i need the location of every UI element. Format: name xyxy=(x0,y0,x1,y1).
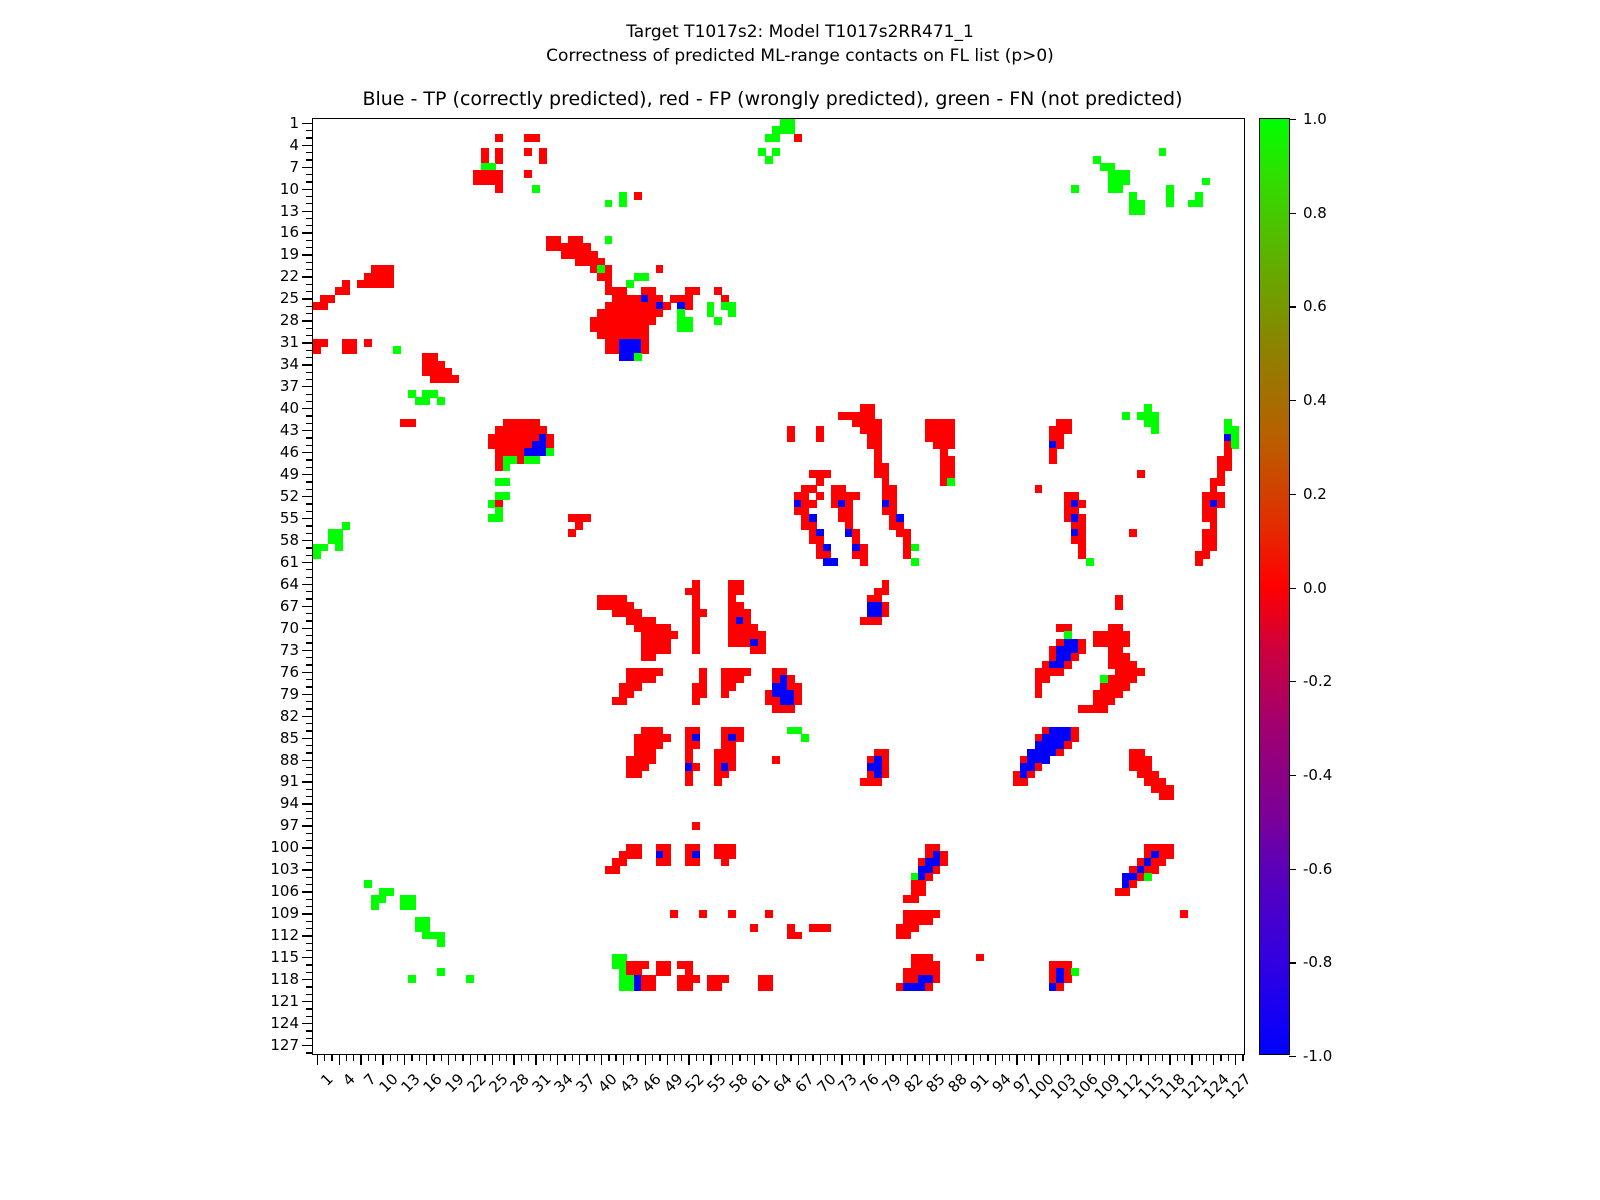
x-tick xyxy=(725,1054,726,1061)
y-tick xyxy=(302,562,313,563)
y-tick-label: 31 xyxy=(280,333,299,351)
x-tick xyxy=(914,1054,915,1061)
contact-cell-fp xyxy=(685,778,693,786)
y-tick-label: 118 xyxy=(270,970,299,988)
colorbar-tick xyxy=(1289,306,1296,307)
y-tick xyxy=(306,686,313,687)
y-tick xyxy=(302,452,313,453)
figure-title-line2: Correctness of predicted ML-range contac… xyxy=(0,44,1600,68)
contact-cell-fp xyxy=(320,302,328,310)
y-tick xyxy=(306,181,313,182)
contact-cell-fp xyxy=(692,741,700,749)
x-tick xyxy=(382,1054,383,1065)
contact-cell-fp xyxy=(663,302,671,310)
x-tick xyxy=(368,1054,369,1061)
y-tick xyxy=(306,152,313,153)
x-tick xyxy=(1097,1054,1098,1061)
contact-cell-fn xyxy=(772,134,780,142)
contact-cell-fp xyxy=(728,763,736,771)
contact-cell-fn xyxy=(1115,185,1123,193)
x-tick xyxy=(477,1054,478,1061)
contact-cell-fn xyxy=(1144,873,1152,881)
y-tick xyxy=(302,364,313,365)
contact-cell-fp xyxy=(933,866,941,874)
contact-cell-fp xyxy=(925,917,933,925)
contact-cell-fp xyxy=(619,858,627,866)
y-tick-label: 46 xyxy=(280,443,299,461)
contact-cell-fn xyxy=(626,280,634,288)
x-tick xyxy=(543,1054,544,1061)
y-tick-label: 25 xyxy=(280,289,299,307)
x-tick xyxy=(1206,1054,1207,1061)
y-tick xyxy=(302,254,313,255)
colorbar-tick xyxy=(1289,119,1296,120)
y-tick xyxy=(306,291,313,292)
contact-cell-fp xyxy=(787,705,795,713)
x-tick xyxy=(980,1054,981,1061)
y-tick xyxy=(306,394,313,395)
contact-cell-fp xyxy=(699,690,707,698)
colorbar-tick-label: -0.6 xyxy=(1303,860,1332,878)
contact-cell-fp xyxy=(1115,690,1123,698)
contact-cell-fn xyxy=(619,200,627,208)
x-tick-label: 1 xyxy=(317,1070,336,1089)
contact-cell-fp xyxy=(386,280,394,288)
y-tick xyxy=(306,862,313,863)
contact-cell-fp xyxy=(648,756,656,764)
x-tick xyxy=(1089,1054,1090,1061)
contact-cell-fp xyxy=(451,375,459,383)
contact-cell-fp xyxy=(1159,858,1167,866)
x-tick xyxy=(470,1054,471,1065)
contact-cell-fp xyxy=(925,873,933,881)
x-tick xyxy=(594,1054,595,1061)
y-tick xyxy=(306,964,313,965)
y-tick xyxy=(302,935,313,936)
x-tick xyxy=(608,1054,609,1061)
x-tick xyxy=(404,1054,405,1065)
colorbar-tick-label: -0.2 xyxy=(1303,672,1332,690)
contact-cell-fp xyxy=(568,529,576,537)
x-tick xyxy=(601,1054,602,1065)
contact-cell-fn xyxy=(772,148,780,156)
contact-cell-fp xyxy=(903,932,911,940)
y-tick xyxy=(306,1038,313,1039)
y-tick xyxy=(302,869,313,870)
x-tick xyxy=(681,1054,682,1061)
x-tick xyxy=(346,1054,347,1061)
contact-cell-fp xyxy=(663,968,671,976)
y-tick xyxy=(302,957,313,958)
y-tick xyxy=(306,240,313,241)
x-tick xyxy=(550,1054,551,1061)
contact-cell-fp xyxy=(670,910,678,918)
y-tick xyxy=(306,503,313,504)
y-tick xyxy=(302,408,313,409)
y-tick xyxy=(302,540,313,541)
x-tick xyxy=(375,1054,376,1061)
y-tick xyxy=(306,401,313,402)
y-tick xyxy=(302,891,313,892)
colorbar-tick-label: 0.8 xyxy=(1303,204,1327,222)
x-tick xyxy=(339,1054,340,1065)
x-tick xyxy=(878,1054,879,1061)
contact-cell-fp xyxy=(685,302,693,310)
contact-cell-fn xyxy=(342,522,350,530)
contact-cell-fn xyxy=(714,317,722,325)
contact-cell-fp xyxy=(823,470,831,478)
contact-cell-fp xyxy=(663,734,671,742)
contact-cell-fp xyxy=(670,631,678,639)
contact-cell-fp xyxy=(1071,653,1079,661)
contact-cell-fp xyxy=(758,646,766,654)
contact-cell-fp xyxy=(1180,910,1188,918)
y-tick xyxy=(306,379,313,380)
contact-cell-fp xyxy=(648,317,656,325)
x-tick xyxy=(995,1054,996,1065)
y-tick xyxy=(302,913,313,914)
contact-cell-fp xyxy=(1042,675,1050,683)
contact-cell-fn xyxy=(605,236,613,244)
x-tick xyxy=(1104,1054,1105,1065)
contact-cell-fp xyxy=(911,895,919,903)
x-tick xyxy=(397,1054,398,1061)
contact-cell-fp xyxy=(765,910,773,918)
y-tick xyxy=(306,372,313,373)
x-tick xyxy=(849,1054,850,1061)
x-tick xyxy=(1191,1054,1192,1065)
contact-cell-fp xyxy=(1166,851,1174,859)
contact-cell-fp xyxy=(736,675,744,683)
y-tick xyxy=(306,635,313,636)
contact-cell-fp xyxy=(1108,697,1116,705)
contact-cell-fp xyxy=(1217,478,1225,486)
y-tick xyxy=(306,774,313,775)
x-tick xyxy=(1228,1054,1229,1061)
x-tick xyxy=(1169,1054,1170,1065)
contact-cell-fn xyxy=(437,939,445,947)
y-tick xyxy=(302,1001,313,1002)
y-tick xyxy=(306,137,313,138)
contact-cell-fp xyxy=(816,434,824,442)
x-tick xyxy=(820,1054,821,1065)
x-tick xyxy=(1002,1054,1003,1061)
x-tick xyxy=(630,1054,631,1061)
contact-cell-fp xyxy=(1115,602,1123,610)
x-tick xyxy=(331,1054,332,1061)
x-tick xyxy=(564,1054,565,1061)
x-tick xyxy=(652,1054,653,1061)
x-tick-label: 127 xyxy=(1222,1070,1255,1103)
x-tick xyxy=(426,1054,427,1065)
contact-cell-fp xyxy=(1122,683,1130,691)
contact-cell-fn xyxy=(1071,968,1079,976)
x-tick xyxy=(623,1054,624,1065)
y-tick-label: 82 xyxy=(280,707,299,725)
y-tick xyxy=(306,664,313,665)
colorbar-tick-label: 0.2 xyxy=(1303,485,1327,503)
y-tick xyxy=(306,569,313,570)
contact-cell-fp xyxy=(721,858,729,866)
x-tick xyxy=(1038,1054,1039,1065)
y-tick xyxy=(306,752,313,753)
y-tick-label: 109 xyxy=(270,904,299,922)
y-tick xyxy=(306,130,313,131)
contact-cell-fp xyxy=(882,588,890,596)
y-tick xyxy=(306,921,313,922)
x-tick xyxy=(615,1054,616,1061)
colorbar-tick xyxy=(1289,400,1296,401)
contact-cell-fp xyxy=(1049,456,1057,464)
contact-cell-fp xyxy=(750,924,758,932)
y-tick xyxy=(302,1045,313,1046)
contact-cell-fp xyxy=(852,492,860,500)
contact-cell-tp xyxy=(831,558,839,566)
contact-cell-fp xyxy=(925,983,933,991)
x-tick xyxy=(703,1054,704,1061)
contact-cell-fp xyxy=(641,961,649,969)
y-tick xyxy=(306,767,313,768)
x-tick xyxy=(1060,1054,1061,1065)
y-tick xyxy=(306,745,313,746)
x-tick xyxy=(586,1054,587,1061)
y-tick xyxy=(302,496,313,497)
y-tick xyxy=(302,430,313,431)
colorbar-tick xyxy=(1289,775,1296,776)
y-tick-label: 43 xyxy=(280,421,299,439)
y-tick xyxy=(306,533,313,534)
contact-cell-fp xyxy=(699,910,707,918)
contact-cell-fp xyxy=(772,756,780,764)
figure-title: Target T1017s2: Model T1017s2RR471_1 Cor… xyxy=(0,20,1600,68)
x-tick xyxy=(965,1054,966,1061)
y-tick xyxy=(306,262,313,263)
contact-cell-fp xyxy=(1020,778,1028,786)
y-tick xyxy=(302,979,313,980)
colorbar: 1.00.80.60.40.20.0-0.2-0.4-0.6-0.8-1.0 xyxy=(1259,118,1290,1055)
contact-cell-fp xyxy=(692,822,700,830)
contact-cell-fp xyxy=(1035,485,1043,493)
y-tick xyxy=(302,738,313,739)
x-tick xyxy=(1009,1054,1010,1061)
y-tick xyxy=(306,415,313,416)
contact-cell-fn xyxy=(408,975,416,983)
x-tick xyxy=(353,1054,354,1061)
contact-cell-fp xyxy=(656,265,664,273)
y-tick-label: 88 xyxy=(280,751,299,769)
x-tick xyxy=(499,1054,500,1061)
contact-cell-fp xyxy=(933,975,941,983)
x-tick xyxy=(769,1054,770,1061)
y-tick xyxy=(306,1030,313,1031)
x-tick xyxy=(528,1054,529,1061)
x-tick xyxy=(1184,1054,1185,1061)
y-tick xyxy=(302,320,313,321)
x-tick xyxy=(521,1054,522,1061)
x-tick xyxy=(667,1054,668,1065)
contact-cell-fn xyxy=(1151,426,1159,434)
y-tick xyxy=(302,145,313,146)
y-tick-label: 52 xyxy=(280,487,299,505)
contact-map-plot-area[interactable]: 1471013161922252831343740434649525558616… xyxy=(312,118,1245,1055)
y-tick xyxy=(306,1008,313,1009)
x-tick xyxy=(513,1054,514,1065)
contact-cell-fn xyxy=(503,492,511,500)
contact-cell-fn xyxy=(379,895,387,903)
x-tick xyxy=(1031,1054,1032,1061)
x-tick xyxy=(360,1054,361,1065)
x-tick xyxy=(761,1054,762,1061)
x-tick xyxy=(841,1054,842,1065)
y-tick xyxy=(302,342,313,343)
contact-cell-fp xyxy=(714,983,722,991)
y-tick-label: 100 xyxy=(270,838,299,856)
contact-cell-fp xyxy=(692,646,700,654)
x-tick xyxy=(1162,1054,1163,1061)
contact-cell-fp xyxy=(1071,734,1079,742)
contact-cell-fp xyxy=(692,763,700,771)
x-tick xyxy=(732,1054,733,1065)
contact-cell-fp xyxy=(787,434,795,442)
y-tick xyxy=(302,825,313,826)
contact-cell-fn xyxy=(634,353,642,361)
contact-cell-fn xyxy=(503,463,511,471)
x-tick xyxy=(324,1054,325,1061)
contact-cell-fn xyxy=(911,544,919,552)
contact-cell-fp xyxy=(794,932,802,940)
y-tick xyxy=(306,247,313,248)
y-tick-label: 85 xyxy=(280,729,299,747)
y-tick-label: 64 xyxy=(280,575,299,593)
colorbar-tick xyxy=(1289,681,1296,682)
x-tick xyxy=(441,1054,442,1061)
contact-cell-fp xyxy=(721,690,729,698)
contact-cell-fp xyxy=(1202,551,1210,559)
contact-cell-fp xyxy=(728,851,736,859)
x-tick xyxy=(987,1054,988,1061)
contact-cell-fp xyxy=(736,588,744,596)
y-tick xyxy=(302,847,313,848)
y-tick-label: 67 xyxy=(280,597,299,615)
x-tick xyxy=(645,1054,646,1065)
colorbar-tick xyxy=(1289,1056,1296,1057)
contact-cell-fp xyxy=(495,156,503,164)
contact-cell-fp xyxy=(1056,749,1064,757)
y-tick xyxy=(306,708,313,709)
contact-cell-fp xyxy=(1122,639,1130,647)
contact-cell-fn xyxy=(801,734,809,742)
y-tick xyxy=(302,298,313,299)
y-tick-label: 55 xyxy=(280,509,299,527)
x-tick xyxy=(579,1054,580,1065)
contact-cell-fn xyxy=(364,880,372,888)
x-tick xyxy=(747,1054,748,1061)
y-tick xyxy=(306,701,313,702)
y-tick xyxy=(306,730,313,731)
y-tick-label: 115 xyxy=(270,948,299,966)
x-tick xyxy=(1242,1054,1243,1061)
colorbar-tick-label: 0.6 xyxy=(1303,297,1327,315)
contact-cell-fp xyxy=(364,339,372,347)
colorbar-tick xyxy=(1289,213,1296,214)
colorbar-tick xyxy=(1289,869,1296,870)
y-tick xyxy=(306,723,313,724)
y-tick-label: 13 xyxy=(280,202,299,220)
contact-cell-fp xyxy=(736,734,744,742)
y-tick xyxy=(306,598,313,599)
x-tick xyxy=(1046,1054,1047,1061)
x-tick xyxy=(1155,1054,1156,1061)
y-tick xyxy=(306,943,313,944)
x-tick xyxy=(1016,1054,1017,1065)
y-tick xyxy=(306,481,313,482)
contact-cell-fp xyxy=(860,558,868,566)
y-tick xyxy=(306,225,313,226)
contact-cell-fp xyxy=(1064,741,1072,749)
y-tick-label: 1 xyxy=(289,114,299,132)
y-tick xyxy=(306,313,313,314)
x-tick xyxy=(696,1054,697,1061)
contact-cell-fn xyxy=(1231,441,1239,449)
contact-cell-fp xyxy=(1064,975,1072,983)
y-tick xyxy=(302,276,313,277)
contact-cell-fp xyxy=(1056,668,1064,676)
contact-cell-fp xyxy=(1100,705,1108,713)
contact-cell-fp xyxy=(575,522,583,530)
contact-cell-fp xyxy=(524,170,532,178)
contact-cell-fp xyxy=(1137,470,1145,478)
y-tick-label: 76 xyxy=(280,663,299,681)
contact-cell-fp xyxy=(765,983,773,991)
y-tick xyxy=(302,123,313,124)
contact-cell-fp xyxy=(794,697,802,705)
y-tick-label: 7 xyxy=(289,158,299,176)
x-tick xyxy=(1075,1054,1076,1061)
contact-cell-fp xyxy=(648,653,656,661)
y-tick-label: 61 xyxy=(280,553,299,571)
x-tick xyxy=(1199,1054,1200,1061)
y-tick xyxy=(302,518,313,519)
y-tick xyxy=(302,606,313,607)
contact-cell-fp xyxy=(699,609,707,617)
contact-cell-fp xyxy=(1137,668,1145,676)
contact-cell-fp xyxy=(641,763,649,771)
y-tick xyxy=(306,203,313,204)
y-tick xyxy=(306,423,313,424)
contact-cell-fp xyxy=(947,441,955,449)
colorbar-tick-label: 0.0 xyxy=(1303,579,1327,597)
y-tick-label: 124 xyxy=(270,1014,299,1032)
x-tick xyxy=(390,1054,391,1061)
y-tick xyxy=(306,877,313,878)
contact-cell-fn xyxy=(408,902,416,910)
colorbar-tick-label: -0.8 xyxy=(1303,953,1332,971)
contact-cell-fn xyxy=(1202,178,1210,186)
contact-cell-fn xyxy=(466,975,474,983)
y-tick-label: 16 xyxy=(280,223,299,241)
x-tick xyxy=(1053,1054,1054,1061)
contact-cell-fp xyxy=(1129,880,1137,888)
contact-cell-fp xyxy=(648,675,656,683)
x-tick xyxy=(739,1054,740,1061)
contact-cell-fp xyxy=(663,858,671,866)
y-tick xyxy=(306,906,313,907)
contact-cell-fp xyxy=(692,287,700,295)
y-tick xyxy=(306,196,313,197)
y-tick xyxy=(306,840,313,841)
y-tick xyxy=(306,855,313,856)
x-tick xyxy=(951,1054,952,1065)
